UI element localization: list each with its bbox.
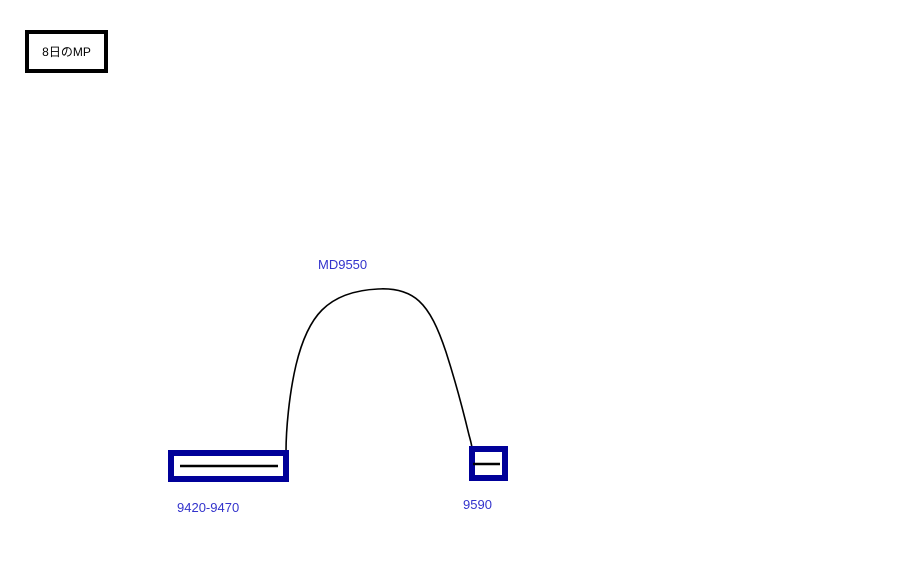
- apex-label: MD9550: [318, 258, 367, 271]
- arch-curve: [286, 289, 472, 452]
- right-element-label: 9590: [463, 498, 492, 511]
- diagram-canvas: 8日のMP MD9550 9420-9470 9590: [0, 0, 907, 565]
- schematic-drawing: [0, 0, 907, 565]
- left-element-label: 9420-9470: [177, 501, 239, 514]
